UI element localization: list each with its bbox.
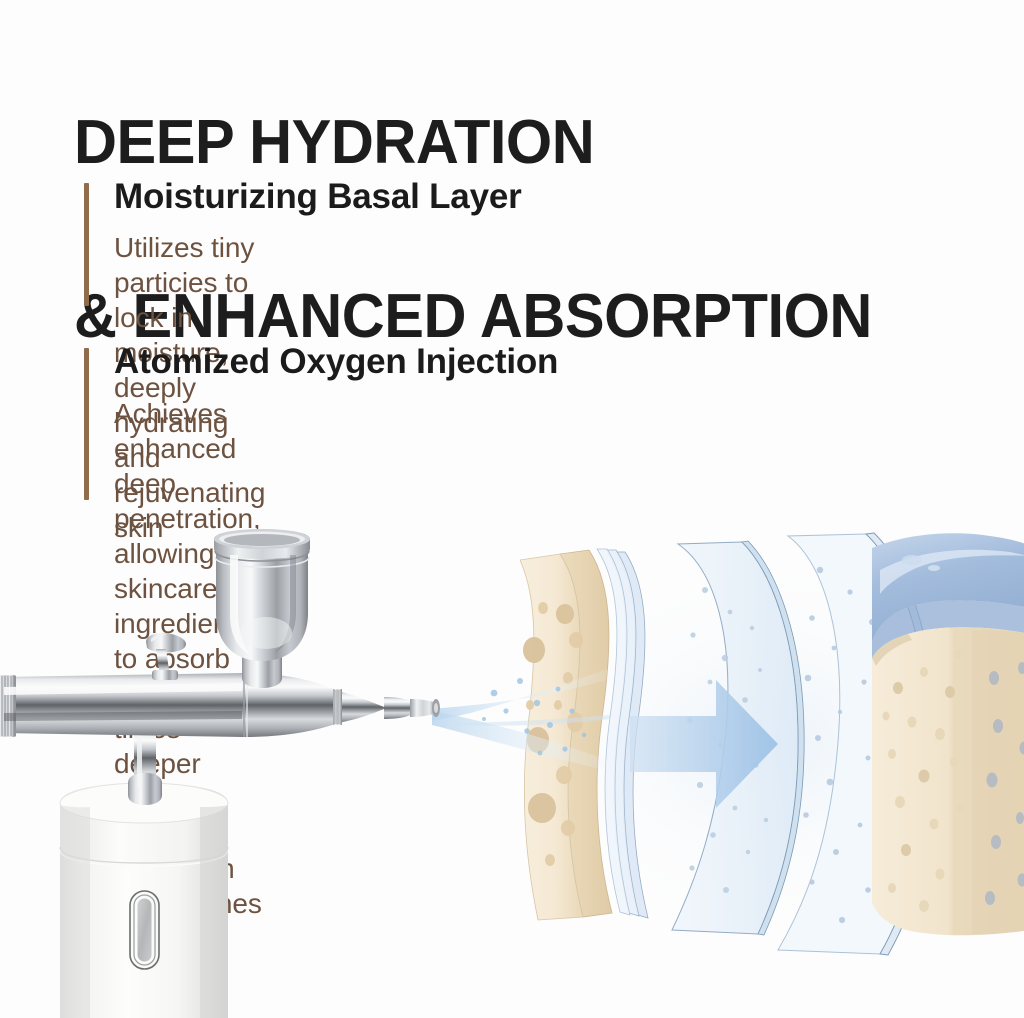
serum-cup [214,529,310,688]
device-base-unit [60,783,228,1018]
feature-title: Moisturizing Basal Layer [114,176,522,218]
airbrush-oxygen-sprayer[interactable] [0,515,464,1018]
power-button[interactable] [130,891,159,969]
accent-bar [84,183,89,306]
feature-title: Atomized Oxygen Injection [114,341,558,383]
airbrush-body [0,673,440,737]
product-illustration [0,505,1024,1018]
product-feature-banner: DEEP HYDRATION & ENHANCED ABSORPTION Moi… [0,0,1024,1018]
accent-bar [84,348,89,500]
headline-line-1: DEEP HYDRATION [74,114,938,172]
skin-block-right [872,533,1024,935]
device-connector-post [128,727,162,805]
nozzle-tip [384,697,440,719]
trigger-lever[interactable] [146,633,186,680]
